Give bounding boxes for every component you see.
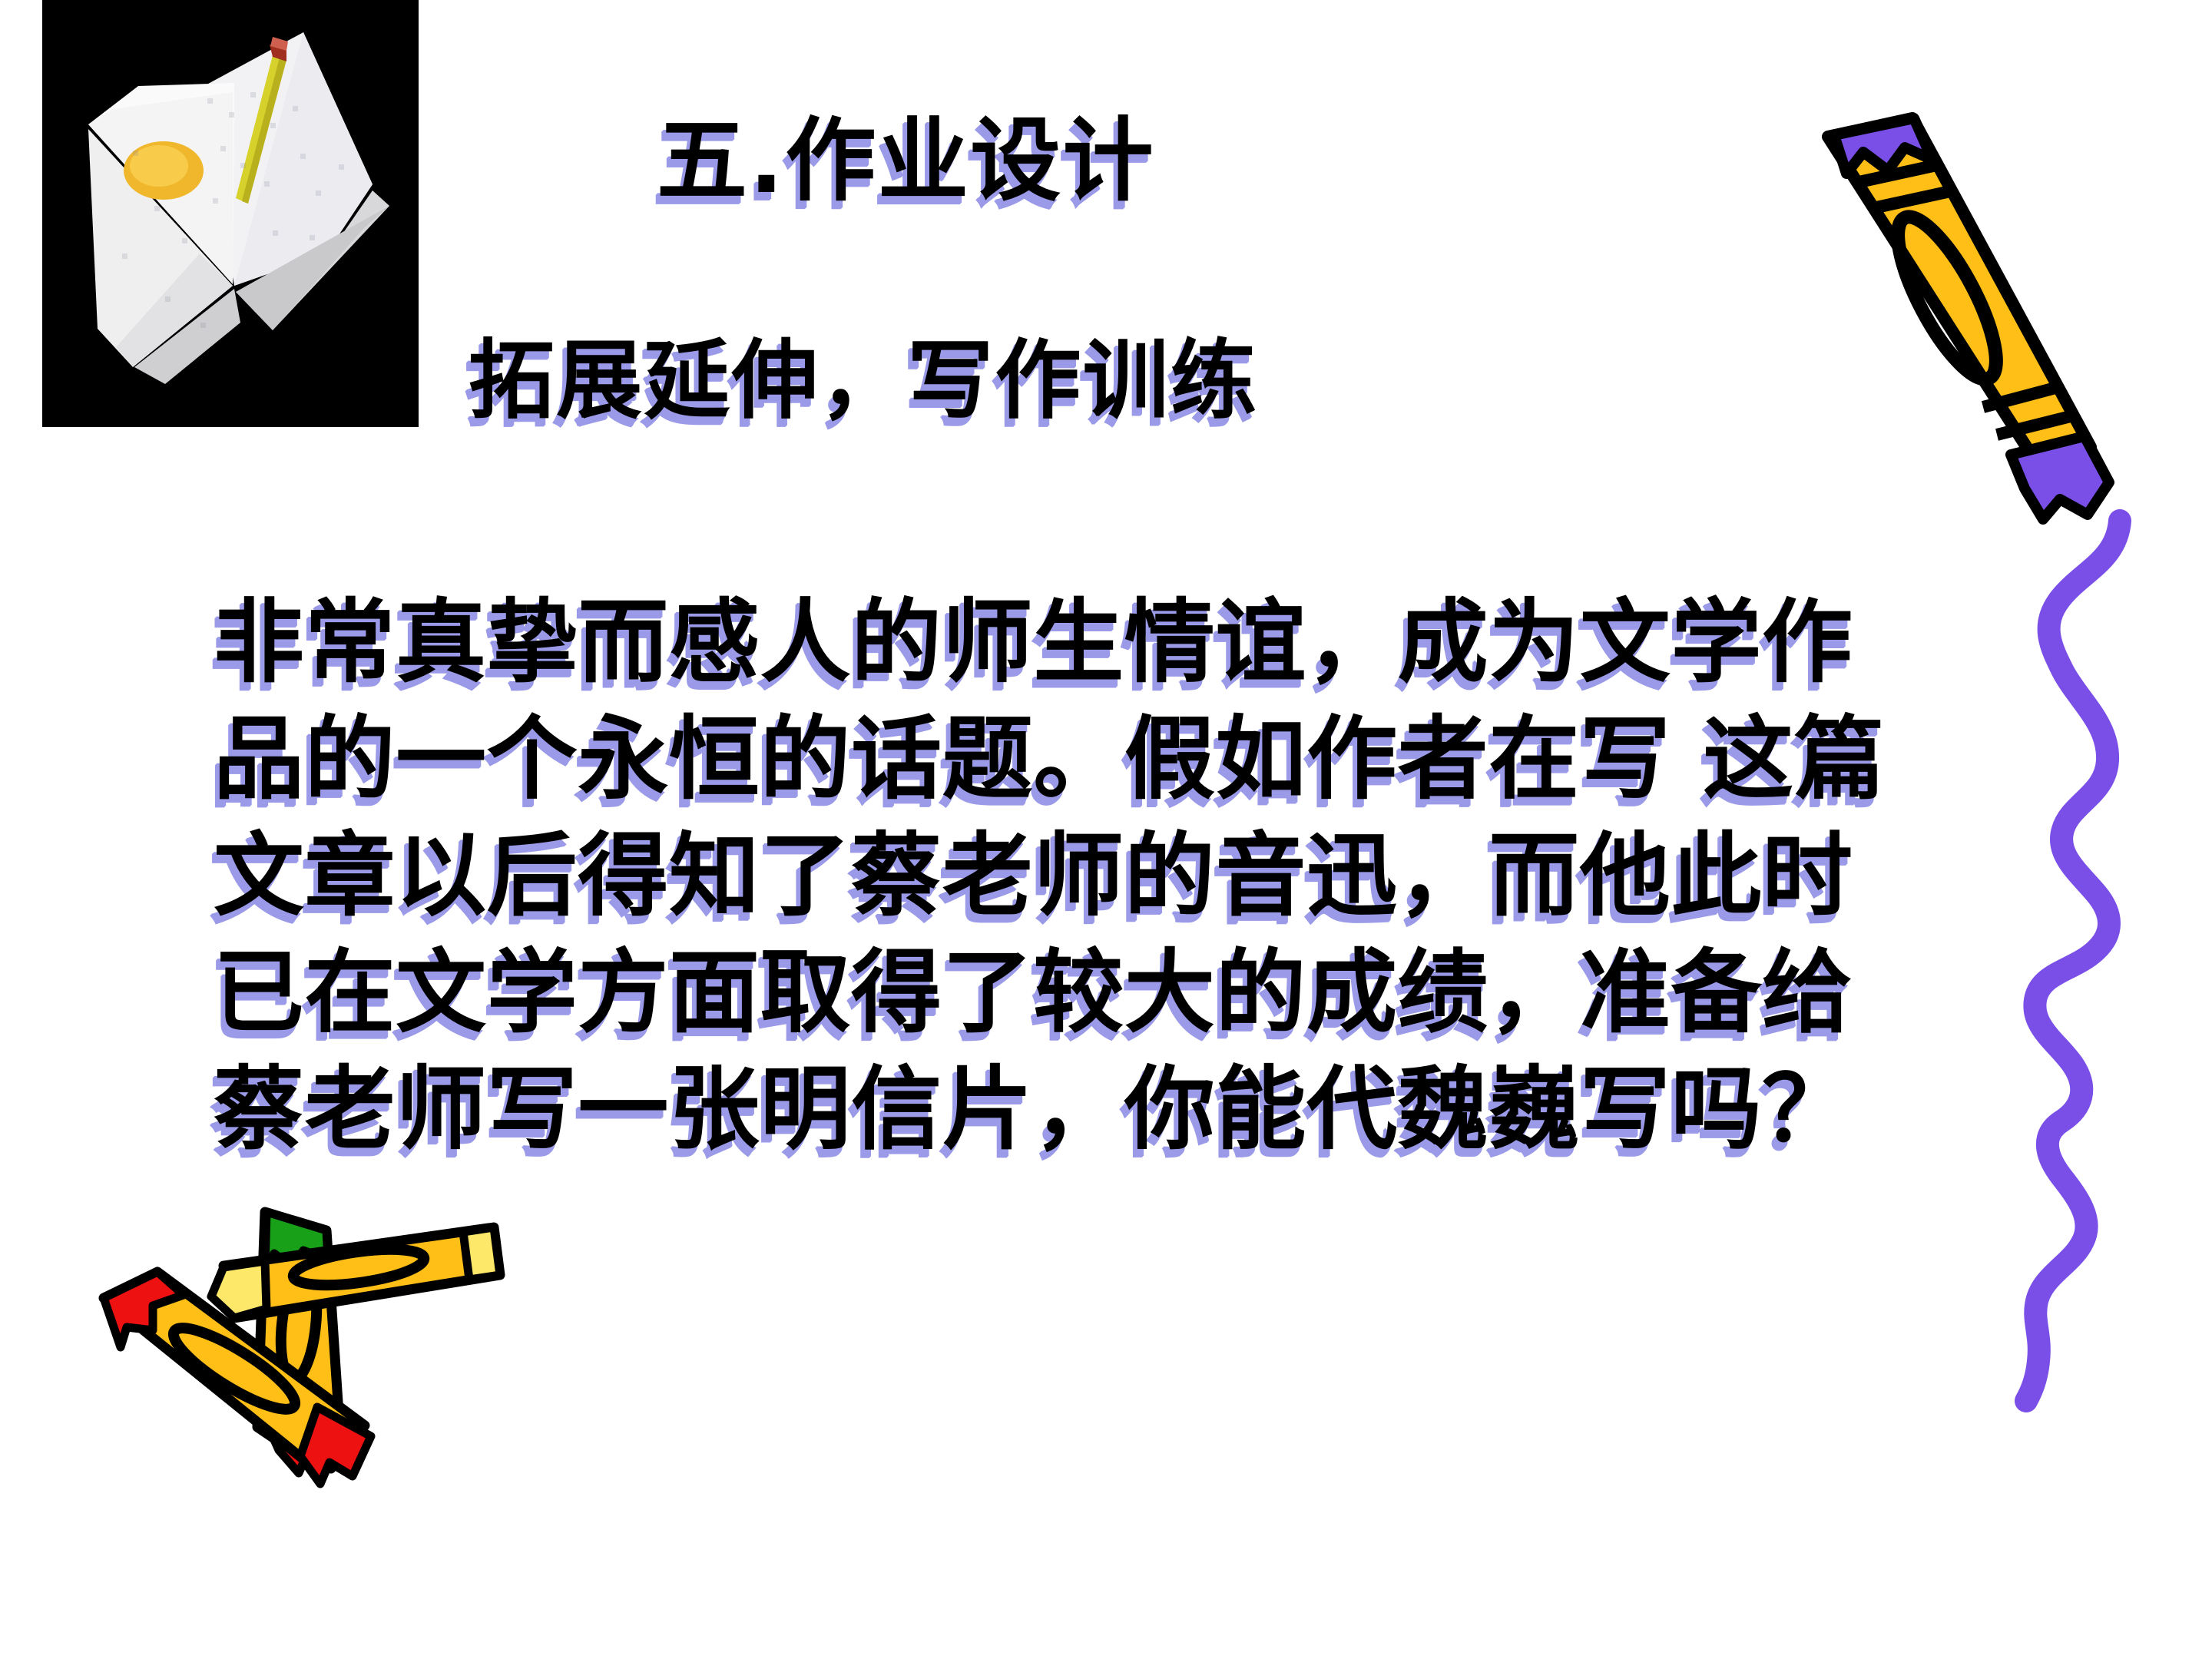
body-line: 文章以后得知了蔡老师的音迅，而他此时: [214, 817, 2003, 934]
presentation-slide: 五.作业设计 拓展延伸，写作训练 非常真挚而感人的师生情谊，成为文学作 品的一个…: [0, 0, 2212, 1659]
body-line: 非常真挚而感人的师生情谊，成为文学作: [214, 584, 2003, 700]
body-line: 蔡老师写一张明信片，你能代魏巍写吗？: [214, 1051, 2003, 1167]
purple-crayon-icon: [1790, 100, 2135, 530]
crossed-crayons-artwork: [73, 1183, 511, 1490]
purple-squiggle-line-icon: [1966, 507, 2212, 1413]
body-line: 品的一个永恒的话题。假如作者在写 这篇: [214, 700, 2003, 817]
book-photo-artwork: [42, 0, 419, 427]
squiggle-artwork: [1966, 507, 2212, 1413]
body-line: 已在文学方面取得了较大的成绩，准备给: [214, 934, 2003, 1051]
body-paragraph: 非常真挚而感人的师生情谊，成为文学作 品的一个永恒的话题。假如作者在写 这篇 文…: [214, 584, 2003, 1167]
purple-crayon-artwork: [1790, 100, 2135, 530]
slide-subtitle: 拓展延伸，写作训练: [469, 338, 1258, 424]
book-with-pencil-photo: [42, 0, 419, 427]
crossed-crayons-icon: [73, 1183, 511, 1490]
page-title: 五.作业设计: [657, 115, 1155, 206]
